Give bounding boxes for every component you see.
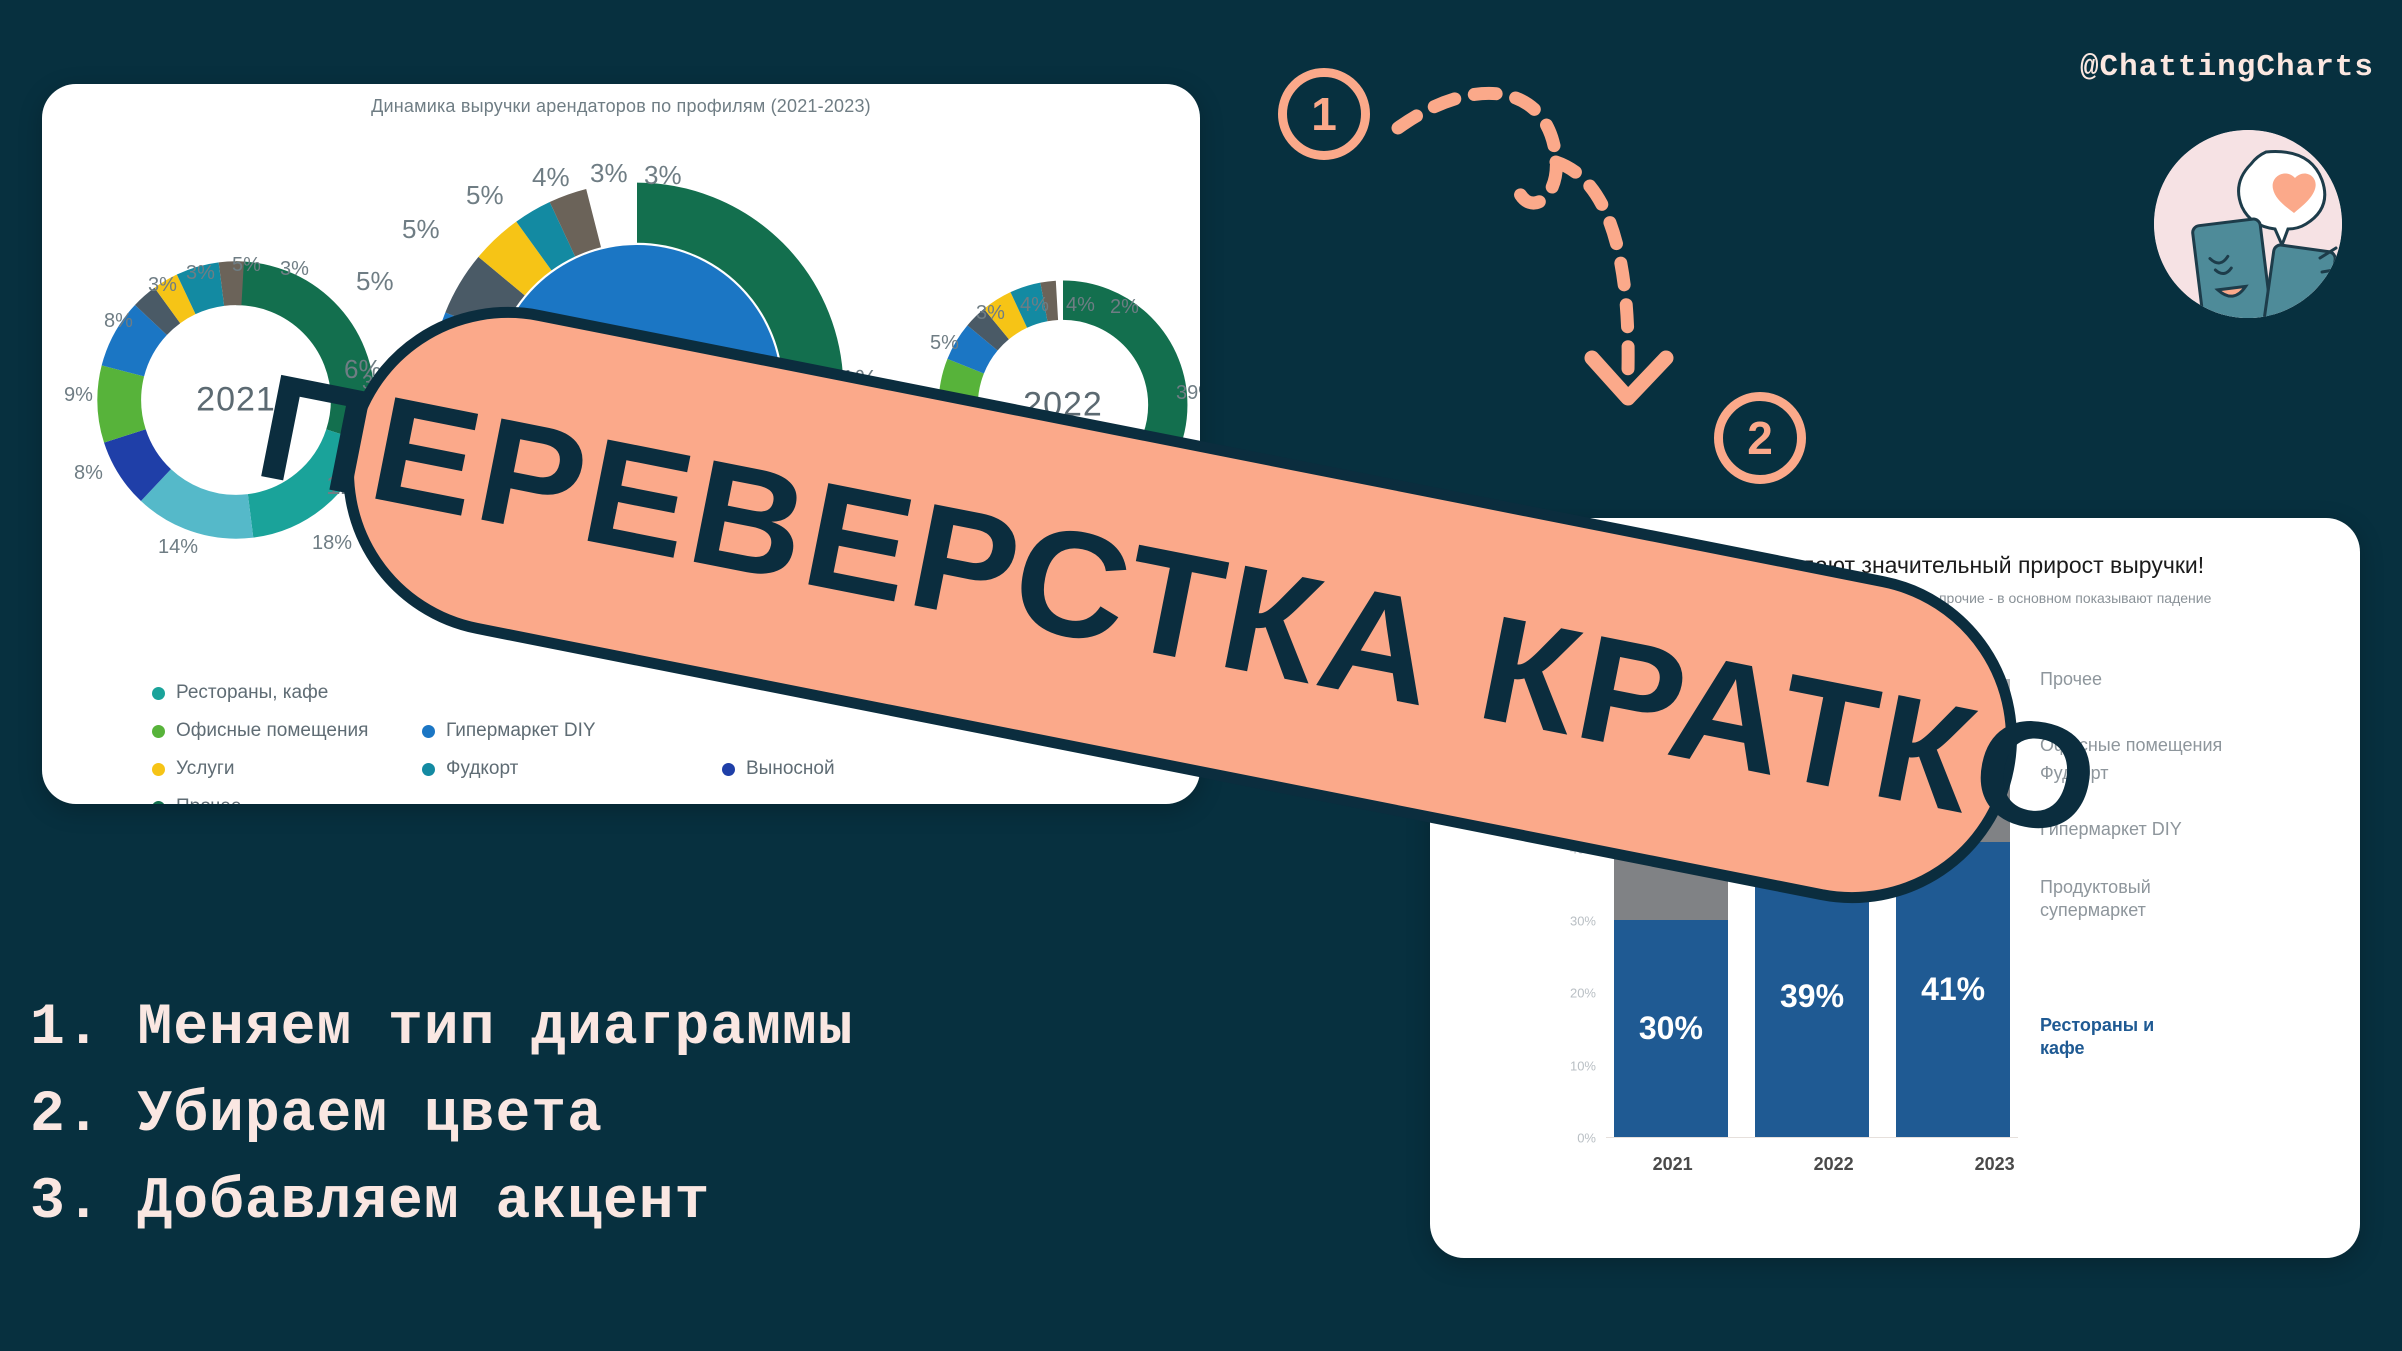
legend-item-foodcourt: Фудкорт [422, 758, 722, 780]
y-tick: 0% [1577, 1131, 1596, 1146]
legend-dot-icon [152, 725, 165, 738]
donut-2021-label-6: 3% [148, 274, 177, 297]
instruction-item-1: 1. Меняем тип диаграммы [30, 985, 854, 1072]
legend-dot-icon [152, 801, 165, 805]
cat-label-supermarket: Продуктовый супермаркет [2040, 876, 2170, 921]
legend-label: Рестораны, кафе [176, 682, 328, 704]
bar-2021-seg-restaurants: 30% [1614, 920, 1727, 1137]
y-tick: 30% [1570, 914, 1596, 929]
donut-2023-label-6: 4% [532, 162, 570, 193]
legend-dot-icon [152, 687, 165, 700]
donut-2023-label-8: 3% [644, 160, 682, 191]
donut-2021-label-4: 9% [64, 384, 93, 407]
legend-dot-icon [722, 763, 735, 776]
cat-label-restaurants: Рестораны и кафе [2040, 1014, 2170, 1059]
avatar-illustration-icon [2154, 130, 2342, 318]
legend-label: Услуги [176, 758, 234, 780]
legend-item-vynosnoy: Выносной [722, 758, 1022, 780]
legend-item-diy: Гипермаркет DIY [422, 720, 722, 742]
legend-label: Фудкорт [446, 758, 518, 780]
x-label-2021: 2021 [1608, 1154, 1737, 1175]
legend-dot-icon [422, 763, 435, 776]
donut-2022-label-5: 4% [1020, 294, 1049, 317]
legend-item-restaurants: Рестораны, кафе [152, 682, 422, 704]
donut-2022-label-7: 2% [1110, 296, 1139, 319]
donut-2022-label-3: 5% [930, 332, 959, 355]
instruction-item-2: 2. Убираем цвета [30, 1072, 854, 1159]
brand-handle: @ChattingCharts [2080, 50, 2374, 85]
donut-2022-label-4: 3% [976, 302, 1005, 325]
x-label-2023: 2023 [1930, 1154, 2059, 1175]
legend-dot-icon [422, 725, 435, 738]
step-badge-1: 1 [1278, 68, 1370, 160]
y-tick: 20% [1570, 986, 1596, 1001]
donut-2022-label-0: 39% [1176, 382, 1200, 405]
legend-label: Гипермаркет DIY [446, 720, 596, 742]
curved-arrow-icon [1380, 70, 1780, 450]
legend-item-services: Услуги [152, 758, 422, 780]
donut-2022-label-6: 4% [1066, 294, 1095, 317]
legend-label: Выносной [746, 758, 835, 780]
instruction-list: 1. Меняем тип диаграммы 2. Убираем цвета… [30, 985, 854, 1246]
donut-2023-label-5: 5% [466, 180, 504, 211]
donut-2021-label-7: 3% [186, 262, 215, 285]
y-tick: 10% [1570, 1059, 1596, 1074]
legend-item-offices: Офисные помещения [152, 720, 422, 742]
donut-2023-label-7: 3% [590, 158, 628, 189]
donut-2021-label-8: 5% [232, 254, 261, 277]
legend-item-other: Прочее [152, 796, 422, 804]
donut-2021-label-3: 8% [74, 462, 103, 485]
avatar: Chag ChangCha [2154, 130, 2342, 318]
poster-canvas: @ChattingCharts Chag ChangCha Динамика в… [0, 0, 2402, 1351]
left-chart-title: Динамика выручки арендаторов по профилям… [42, 96, 1200, 117]
donut-2023-label-4: 5% [402, 214, 440, 245]
legend-dot-icon [152, 763, 165, 776]
donut-2021-label-5: 8% [104, 310, 133, 333]
donut-2021-label-2: 14% [158, 536, 198, 559]
x-label-2022: 2022 [1769, 1154, 1898, 1175]
instruction-item-3: 3. Добавляем акцент [30, 1159, 854, 1246]
donut-2021-label-9: 3% [280, 258, 309, 281]
legend-label: Прочее [176, 796, 241, 804]
legend-label: Офисные помещения [176, 720, 368, 742]
